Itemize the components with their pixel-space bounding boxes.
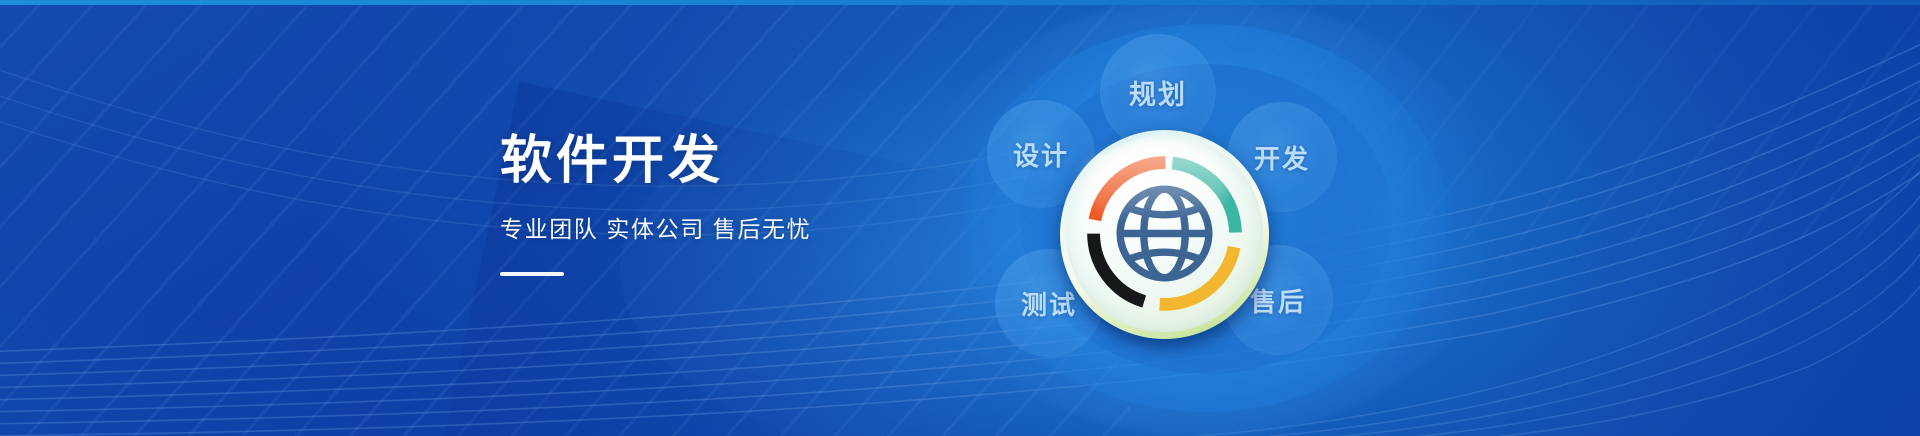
disc-content: [1066, 135, 1263, 332]
headline-block: 软件开发 专业团队 实体公司 售后无忧: [500, 132, 811, 276]
page-subtitle: 专业团队 实体公司 售后无忧: [500, 210, 811, 244]
center-disc: [1060, 130, 1275, 345]
page-title: 软件开发: [500, 132, 811, 190]
globe-icon: [1120, 189, 1209, 278]
process-graphic: 规划 设计 开发 测试 售后: [845, 0, 1565, 436]
top-accent-strip: [0, 0, 1920, 5]
promo-banner: 软件开发 专业团队 实体公司 售后无忧 规划 设计 开发 测试 售后: [0, 0, 1920, 436]
title-underline: [500, 272, 564, 276]
